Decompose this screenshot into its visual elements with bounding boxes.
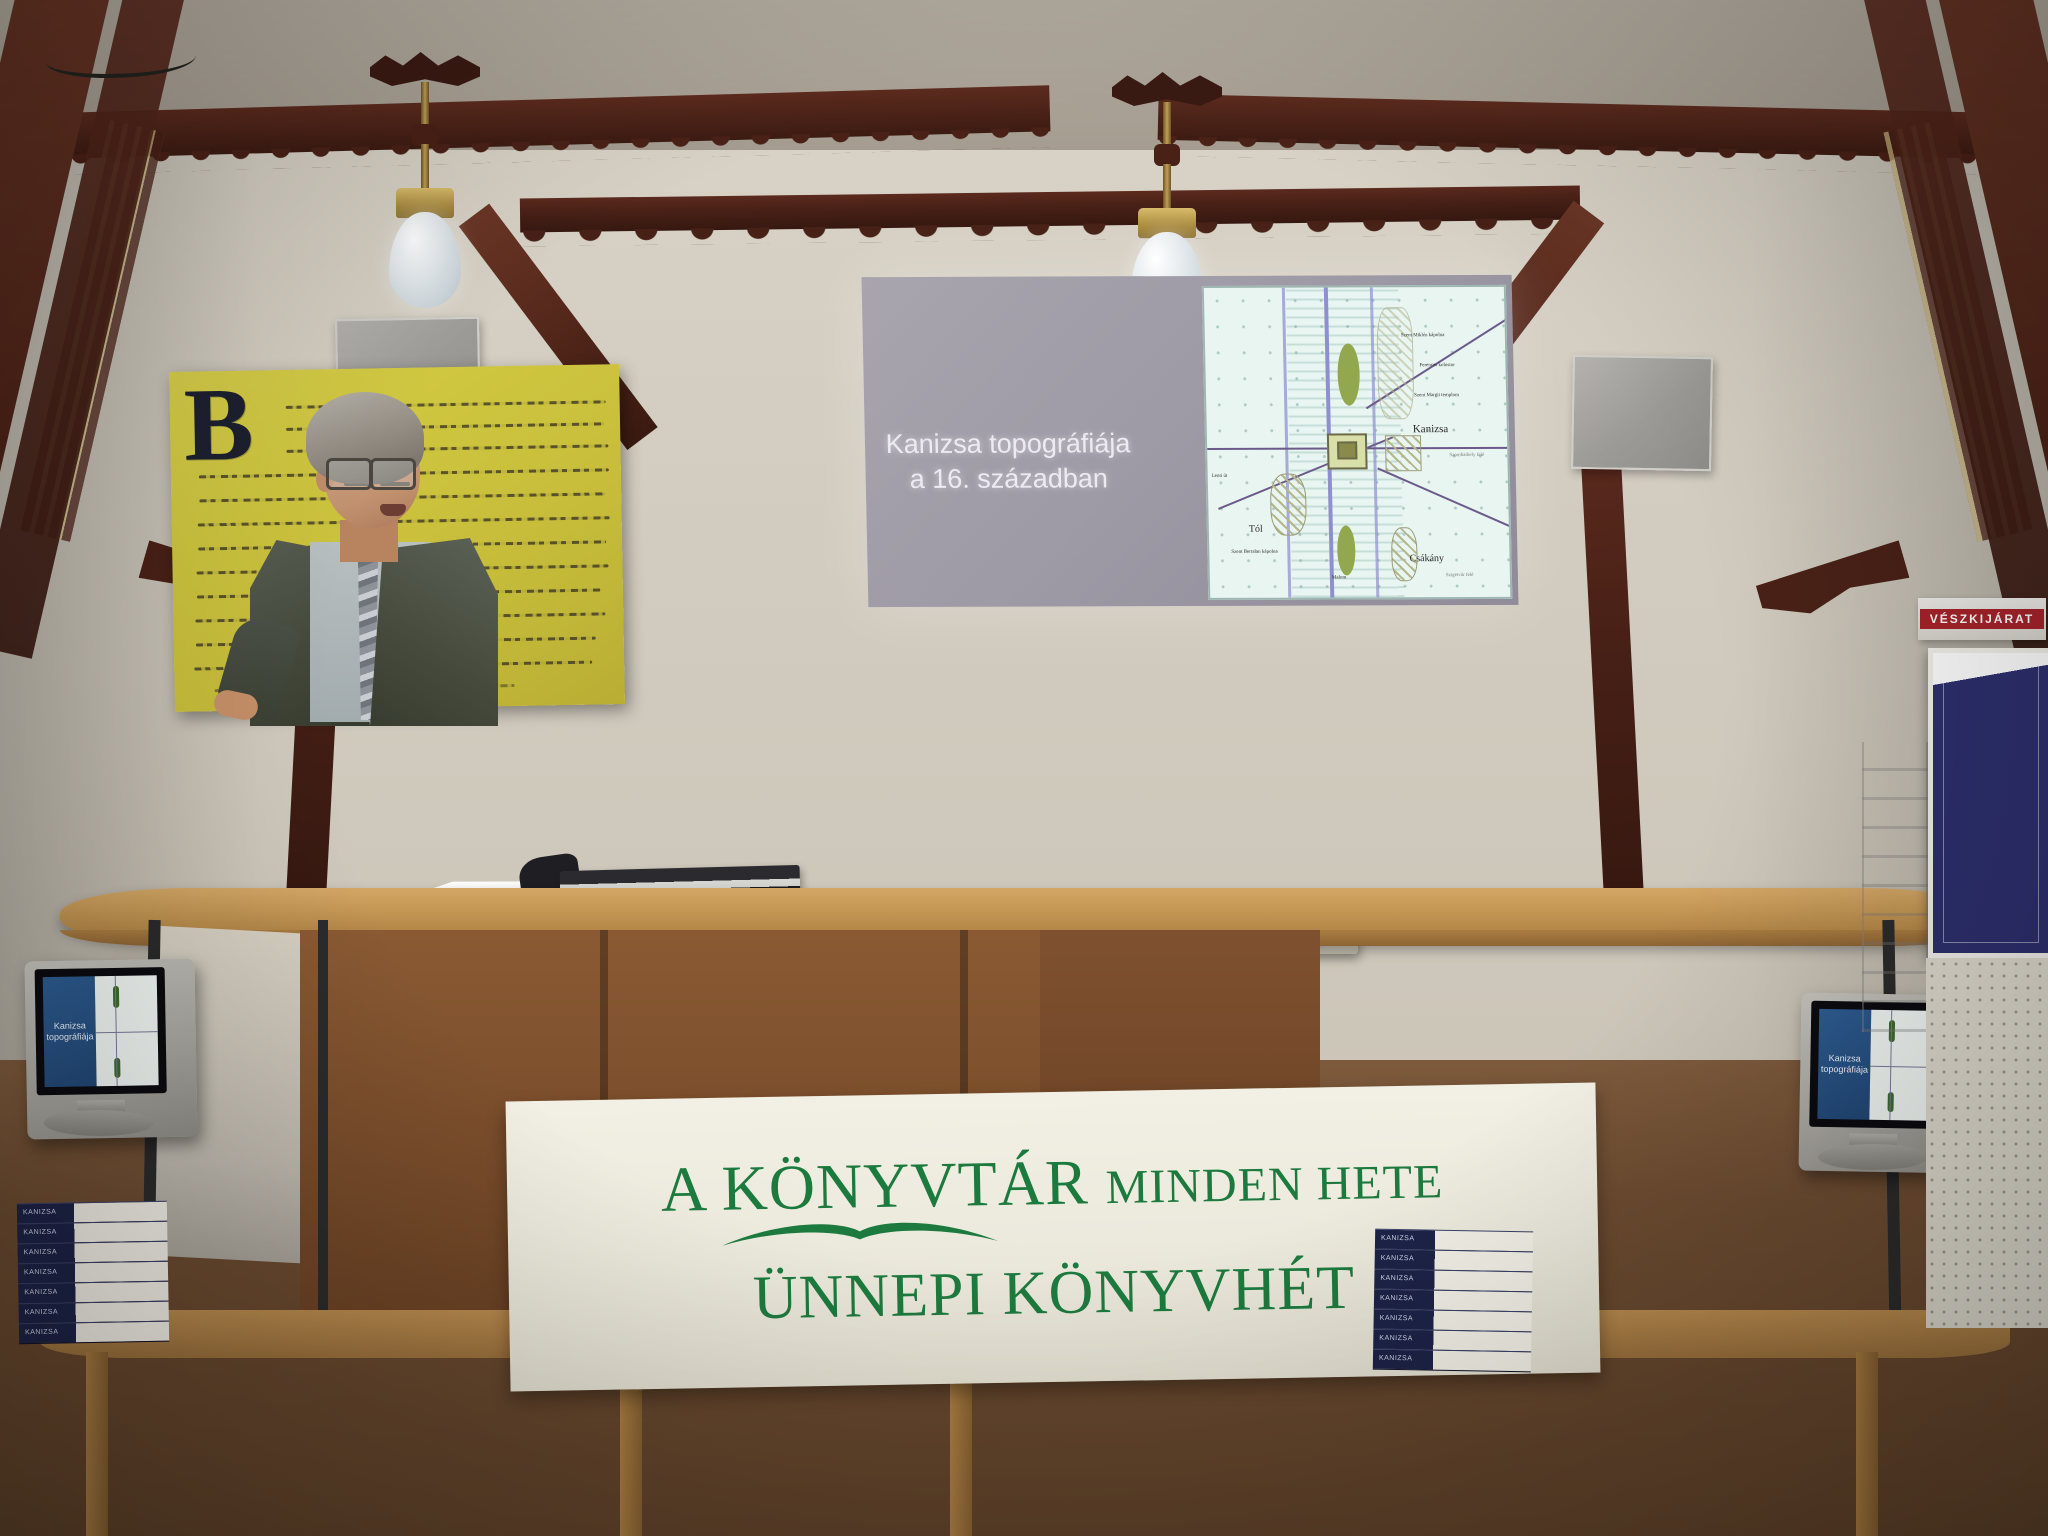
- eyeglasses-right-lens: [370, 458, 416, 490]
- banner-word-konyvtar: KÖNYVTÁR: [721, 1146, 1089, 1223]
- wall-poster-right: [1928, 648, 2048, 958]
- open-book-icon: [719, 1214, 1000, 1251]
- map-label-monastery: Ferences kolostor: [1419, 363, 1455, 368]
- desk-leg-left-inner: [318, 920, 328, 1340]
- book-spine-text: KANIZSA: [23, 1229, 57, 1237]
- lamp-knob: [1154, 144, 1180, 166]
- banner-line-1: A KÖNYVTÁR MINDEN HETE: [660, 1139, 1444, 1227]
- projection-screen: Kanizsa topográfiája a 16. században Kan…: [861, 275, 1518, 607]
- book-spine-text: KANIZSA: [23, 1209, 57, 1217]
- book-spine-text: KANIZSA: [25, 1329, 59, 1337]
- lamp-knob: [412, 124, 438, 146]
- lecture-hall-photo: Kanizsa topográfiája a 16. században Kan…: [0, 0, 2048, 1536]
- monitor-right-base: [1818, 1144, 1928, 1170]
- monitor-left-slide-text: Kanizsa topográfiája: [43, 1020, 96, 1043]
- map-label-mill: Malom: [1332, 575, 1347, 580]
- book-stack-right: KANIZSA KANIZSA KANIZSA KANIZSA KANIZSA …: [1373, 1229, 1533, 1372]
- eyeglasses-left-lens: [326, 458, 372, 490]
- map-label-road-west: Lenti út: [1212, 474, 1228, 479]
- banner-line-2: ÜNNEPI KÖNYVHÉT: [752, 1252, 1355, 1333]
- book-spine-text: KANIZSA: [1381, 1235, 1415, 1243]
- emergency-exit-sign: VÉSZKIJÁRAT: [1918, 598, 2046, 640]
- map-hatch-ne: [1376, 307, 1414, 419]
- book-spine-text: KANIZSA: [24, 1289, 58, 1297]
- monitor-left-slide-textpanel: Kanizsa topográfiája: [43, 976, 97, 1087]
- mouth: [380, 504, 406, 516]
- monitor-left-base: [44, 1110, 154, 1136]
- book-spine-text: KANIZSA: [24, 1269, 58, 1277]
- map-hatch-sw: [1270, 474, 1307, 536]
- pegboard-panel: [1926, 958, 2048, 1328]
- platform-leg-4: [1856, 1352, 1878, 1536]
- ladder: [1862, 742, 1928, 1032]
- wall-speaker-right: [1571, 355, 1713, 471]
- book-spine-text: KANIZSA: [25, 1309, 59, 1317]
- map-label-chapel-north: Szent Miklós kápolna: [1401, 333, 1445, 338]
- lamp-rod-lower: [1163, 164, 1171, 214]
- emergency-exit-label: VÉSZKIJÁRAT: [1920, 609, 2044, 629]
- map-label-tol: Tól: [1249, 524, 1263, 535]
- slide-map: Kanizsa Tól Csákány Szent Miklós kápolna…: [1202, 285, 1513, 600]
- jacket-right: [370, 538, 498, 726]
- book-spine-text: KANIZSA: [1380, 1295, 1414, 1303]
- book-spine-text: KANIZSA: [1379, 1335, 1413, 1343]
- map-label-kanizsa: Kanizsa: [1413, 423, 1449, 435]
- map-label-road-se: Szigetvár felé: [1446, 573, 1474, 578]
- map-label-church-east: Szent Margit templom: [1414, 393, 1459, 398]
- book-spine-text: KANIZSA: [24, 1249, 58, 1257]
- presenter: [248, 392, 498, 722]
- monitor-right-slide-text: Kanizsa topográfiája: [1818, 1053, 1871, 1076]
- slide-title-line1: Kanizsa topográfiája: [883, 426, 1134, 462]
- banner-word-minden-hete: MINDEN HETE: [1105, 1155, 1443, 1214]
- map-fortress-keep: [1337, 441, 1357, 459]
- book-stack-left: KANIZSA KANIZSA KANIZSA KANIZSA KANIZSA …: [17, 1201, 169, 1344]
- map-label-road-east: Szombathely felé: [1449, 453, 1484, 458]
- banner-word-a: A: [660, 1153, 705, 1225]
- monitor-left-slide: Kanizsa topográfiája: [43, 975, 159, 1087]
- monitor-left-screen: Kanizsa topográfiája: [35, 967, 167, 1095]
- book-spine-text: KANIZSA: [1380, 1275, 1414, 1283]
- book-spine-text: KANIZSA: [1381, 1255, 1415, 1263]
- book-spine-text: KANIZSA: [1380, 1315, 1414, 1323]
- lamp-rod-lower: [421, 144, 429, 194]
- poster-inner-border: [1943, 663, 2039, 943]
- map-hatch-town: [1385, 435, 1422, 471]
- map-label-chapel-sw: Szent Bertalan kápolna: [1231, 550, 1277, 555]
- map-label-csakany: Csákány: [1409, 553, 1444, 564]
- slide-title-line2: a 16. században: [883, 461, 1134, 497]
- platform-leg-1: [86, 1352, 108, 1536]
- book-spine-text: KANIZSA: [1379, 1355, 1413, 1363]
- monitor-left-slide-map: [95, 975, 158, 1086]
- slide-title: Kanizsa topográfiája a 16. században: [883, 426, 1135, 497]
